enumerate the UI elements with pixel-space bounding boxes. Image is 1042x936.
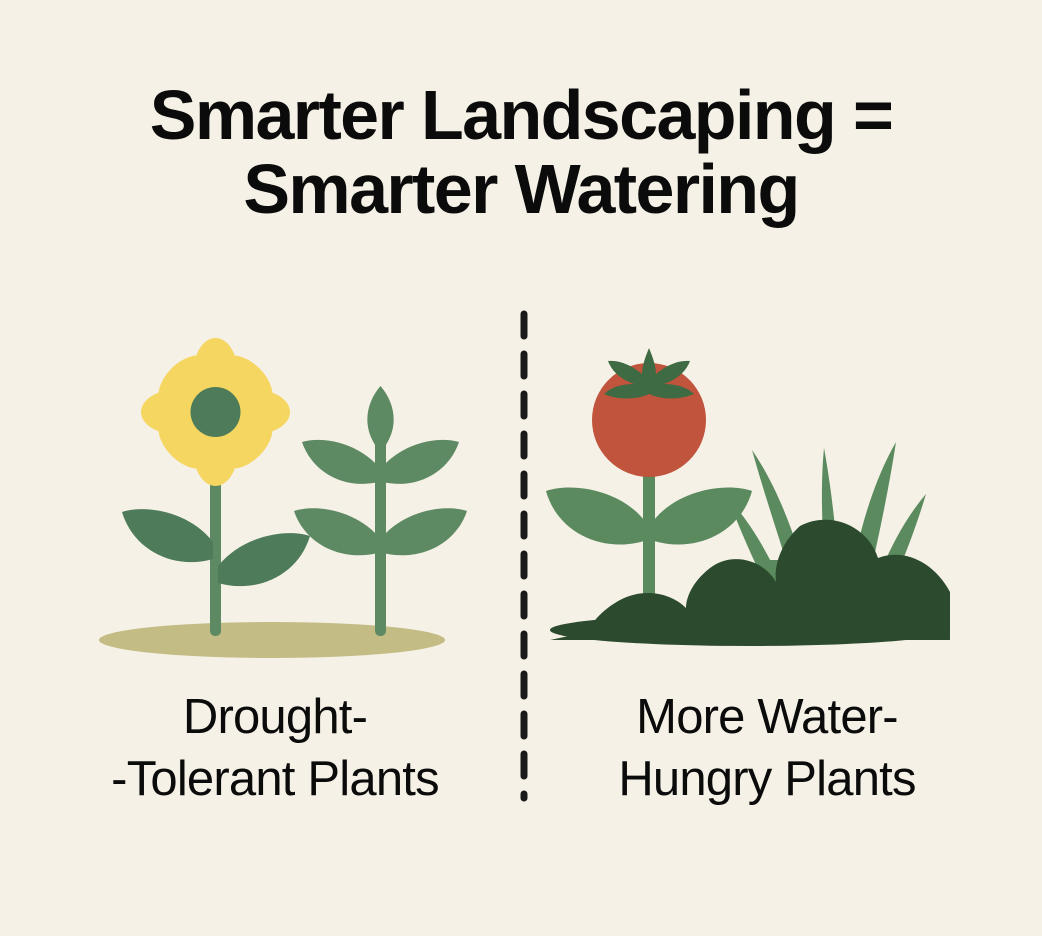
caption-right-line-2: Hungry Plants — [532, 748, 1002, 810]
page-title: Smarter Landscaping = Smarter Watering — [0, 78, 1042, 226]
section-divider — [520, 310, 528, 802]
infographic-poster: Smarter Landscaping = Smarter Watering — [0, 0, 1042, 936]
title-line-2: Smarter Watering — [0, 152, 1042, 226]
illustration-drought-tolerant-plants — [60, 330, 520, 670]
flower-icon — [122, 338, 310, 636]
illustration-water-hungry-plants — [530, 330, 990, 670]
flower-center — [191, 387, 241, 437]
leafy-plant-icon — [294, 386, 467, 636]
caption-left-line-1: Drought- — [40, 686, 510, 748]
caption-right-line-1: More Water- — [532, 686, 1002, 748]
caption-left-line-2: -Tolerant Plants — [40, 748, 510, 810]
tomato-calyx — [604, 348, 694, 399]
title-line-1: Smarter Landscaping = — [0, 78, 1042, 152]
caption-drought-tolerant: Drought- -Tolerant Plants — [40, 686, 510, 810]
soil-ellipse — [99, 622, 445, 658]
caption-water-hungry: More Water- Hungry Plants — [532, 686, 1002, 810]
